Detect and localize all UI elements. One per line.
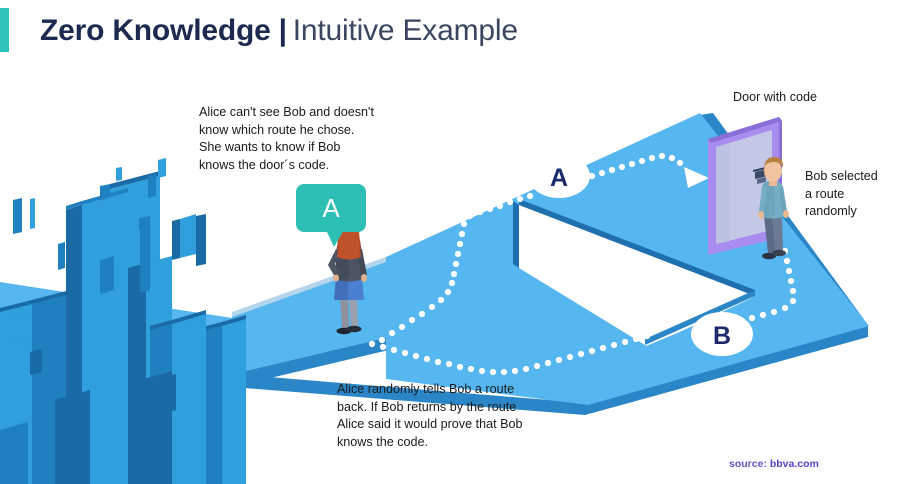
source-host: bbva.com	[770, 458, 819, 470]
caption-line: She wants to know if Bob	[199, 139, 389, 157]
route-badge-a: A	[528, 154, 590, 198]
route-badge-a-label: A	[550, 164, 568, 192]
caption-line: knows the door´s code.	[199, 157, 389, 175]
title-accent-bar	[0, 8, 9, 52]
caption-line: Alice randomly tells Bob a route	[337, 381, 547, 399]
source-credit: source: bbva.com	[729, 458, 819, 470]
infographic-canvas: A A B	[0, 0, 900, 484]
title-light: Intuitive Example	[293, 14, 518, 48]
caption-alice-proof: Alice randomly tells Bob a route back. I…	[337, 381, 547, 451]
caption-line: Alice said it would prove that Bob	[337, 416, 547, 434]
caption-line: a route	[805, 186, 900, 204]
route-badge-b-label: B	[713, 322, 731, 350]
page-title: Zero Knowledge | Intuitive Example	[40, 8, 518, 54]
route-badge-b: B	[691, 312, 753, 356]
title-separator: |	[279, 14, 287, 48]
source-prefix: source:	[729, 458, 767, 470]
caption-line: back. If Bob returns by the route	[337, 399, 547, 417]
label-door-with-code: Door with code	[733, 90, 817, 104]
caption-line: Alice can't see Bob and doesn't	[199, 104, 389, 122]
caption-line: Bob selected	[805, 168, 900, 186]
caption-bob-route: Bob selected a route randomly	[805, 168, 900, 221]
caption-line: randomly	[805, 203, 900, 221]
bubble-letter-a: A	[322, 193, 340, 223]
caption-line: knows the code.	[337, 434, 547, 452]
caption-alice-question: Alice can't see Bob and doesn't know whi…	[199, 104, 389, 174]
title-strong: Zero Knowledge	[40, 14, 271, 48]
caption-line: know which route he chose.	[199, 122, 389, 140]
